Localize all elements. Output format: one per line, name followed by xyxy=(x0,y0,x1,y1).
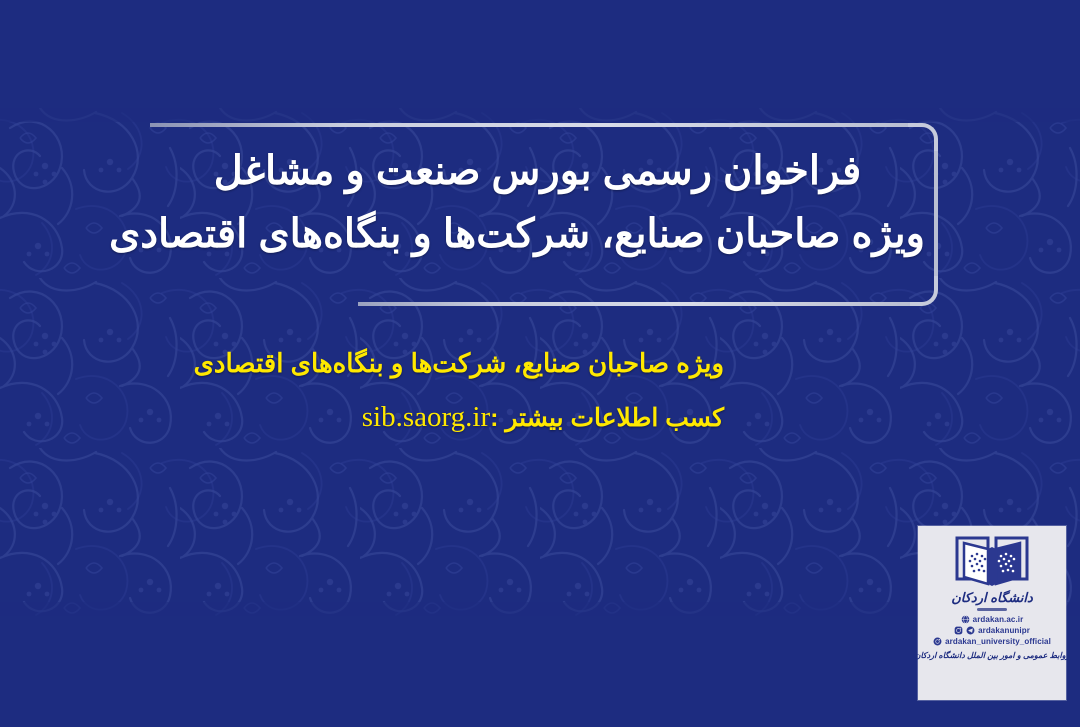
telegram-icon xyxy=(966,626,975,635)
logo-instagram-row: ardakan_university_official xyxy=(933,637,1051,646)
instagram-icon xyxy=(954,626,963,635)
logo-instagram-handle[interactable]: ardakan_university_official xyxy=(945,637,1051,646)
logo-website[interactable]: ardakan.ac.ir xyxy=(973,615,1024,624)
logo-social-row: ardakanunipr xyxy=(954,626,1030,635)
logo-social-handle[interactable]: ardakanunipr xyxy=(978,626,1030,635)
logo-footer-text: روابط عمومی و امور بین الملل دانشگاه ارد… xyxy=(911,652,1074,661)
subtitle-audience: ویژه صاحبان صنایع، شرکت‌ها و بنگاه‌های ا… xyxy=(194,348,724,380)
more-info-label: کسب اطلاعات بیشتر : xyxy=(490,404,724,432)
logo-divider xyxy=(977,608,1007,611)
globe-icon xyxy=(961,615,970,624)
headline-line-2: ویژه صاحبان صنایع، شرکت‌ها و بنگاه‌های ا… xyxy=(150,203,925,266)
info-url[interactable]: sib.saorg.ir xyxy=(362,400,490,435)
announcement-poster: فراخوان رسمی بورس صنعت و مشاغل ویژه صاحب… xyxy=(0,0,1080,727)
subtitle-block: ویژه صاحبان صنایع، شرکت‌ها و بنگاه‌های ا… xyxy=(194,348,724,435)
headline-line-1: فراخوان رسمی بورس صنعت و مشاغل xyxy=(150,140,925,203)
more-info-line: کسب اطلاعات بیشتر :sib.saorg.ir xyxy=(194,400,724,435)
instagram-icon xyxy=(933,637,942,646)
headline: فراخوان رسمی بورس صنعت و مشاغل ویژه صاحب… xyxy=(150,140,925,266)
open-book-icon xyxy=(955,534,1029,588)
university-logo-card: دانشگاه اردکان ardakan.ac.ir ardakanunip… xyxy=(918,526,1066,700)
logo-university-name: دانشگاه اردکان xyxy=(951,590,1033,606)
logo-website-row: ardakan.ac.ir xyxy=(961,615,1024,624)
